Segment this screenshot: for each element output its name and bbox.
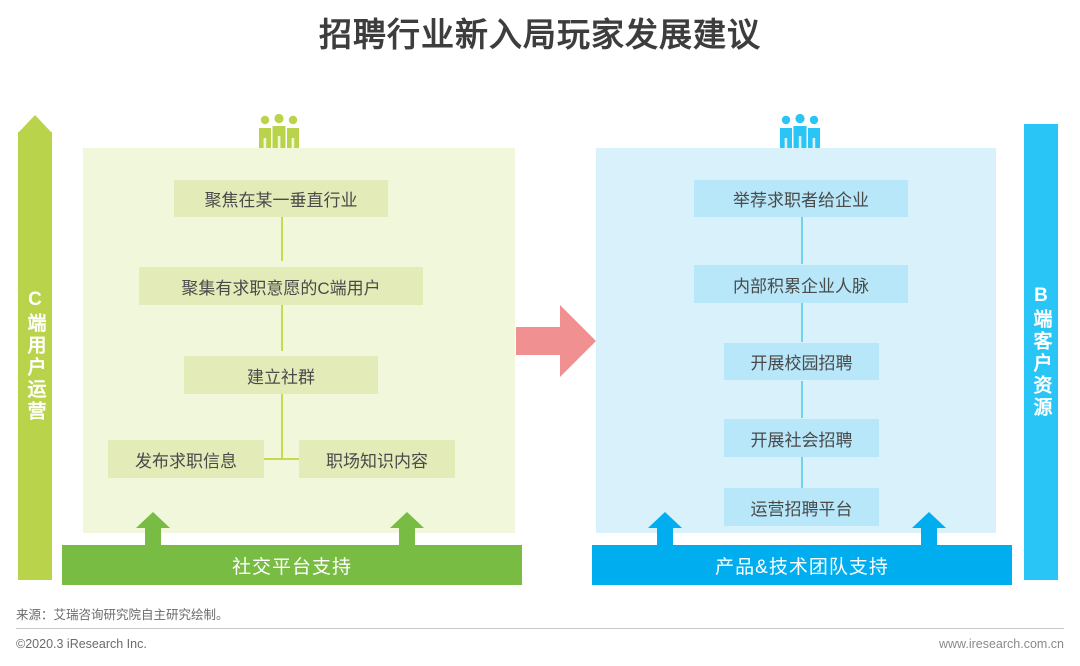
footer-divider: [16, 628, 1064, 629]
flow-box-blue-2[interactable]: 内部积累企业人脉: [694, 265, 908, 303]
up-arrow-green-left-icon: [136, 512, 170, 548]
up-arrow-blue-left-icon: [648, 512, 682, 548]
people-group-icon: [255, 114, 303, 148]
connector-blue-1: [801, 216, 803, 264]
flow-box-green-3[interactable]: 建立社群: [184, 356, 378, 394]
footer-bar-social-platform[interactable]: 社交平台支持: [62, 545, 522, 585]
flow-box-blue-4[interactable]: 开展社会招聘: [724, 419, 879, 457]
flow-box-green-leaf-1[interactable]: 发布求职信息: [108, 440, 264, 478]
infographic-canvas: 招聘行业新入局玩家发展建议 C端用户运营 B端客户资源 聚焦在某一垂直行业 聚集…: [0, 0, 1080, 666]
sidebar-right-text: B端客户资源: [1028, 285, 1055, 419]
flow-box-blue-3[interactable]: 开展校园招聘: [724, 343, 879, 380]
footer-bar-blue-text: 产品&技术团队支持: [715, 552, 889, 579]
up-arrow-blue-right-icon: [912, 512, 946, 548]
connector-green-1: [281, 216, 283, 261]
flow-box-green-leaf-2[interactable]: 职场知识内容: [299, 440, 455, 478]
website-url: www.iresearch.com.cn: [939, 637, 1064, 651]
people-group-icon: [776, 114, 824, 148]
flow-box-blue-5[interactable]: 运营招聘平台: [724, 488, 879, 526]
flow-box-blue-1[interactable]: 举荐求职者给企业: [694, 180, 908, 217]
connector-green-3: [281, 394, 283, 458]
page-title: 招聘行业新入局玩家发展建议: [0, 8, 1080, 56]
flow-box-green-1[interactable]: 聚焦在某一垂直行业: [174, 180, 388, 217]
flow-box-green-2[interactable]: 聚集有求职意愿的C端用户: [139, 267, 423, 305]
sidebar-label-b-end: B端客户资源: [1024, 124, 1058, 580]
up-arrow-green-right-icon: [390, 512, 424, 548]
right-arrow-icon: [516, 305, 596, 377]
footer-bar-product-tech-team[interactable]: 产品&技术团队支持: [592, 545, 1012, 585]
sidebar-left-text: C端用户运营: [22, 289, 49, 423]
connector-blue-3: [801, 381, 803, 418]
connector-blue-2: [801, 303, 803, 342]
sidebar-label-c-end: C端用户运营: [18, 132, 52, 580]
copyright-text: ©2020.3 iResearch Inc.: [16, 637, 147, 651]
connector-green-2: [281, 305, 283, 351]
sidebar-arrow-head-icon: [18, 115, 52, 133]
source-note: 来源：艾瑞咨询研究院自主研究绘制。: [16, 604, 229, 623]
connector-blue-4: [801, 457, 803, 488]
footer-bar-green-text: 社交平台支持: [232, 552, 352, 579]
